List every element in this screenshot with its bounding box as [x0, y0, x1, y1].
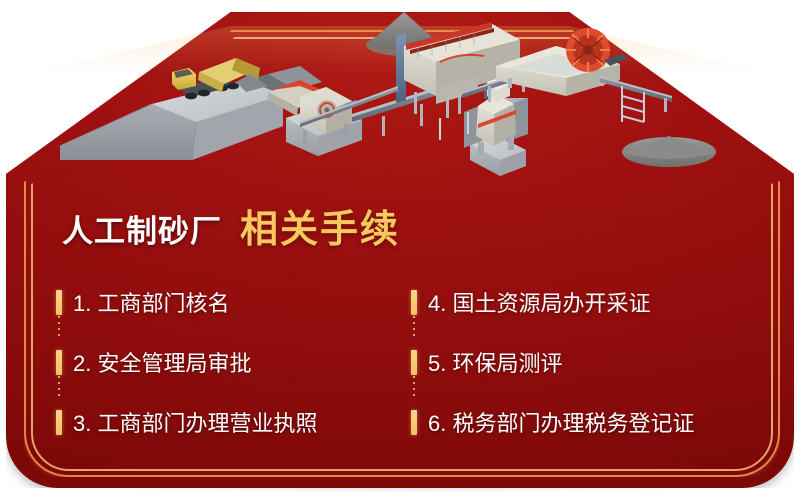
gold-bar-marker-icon [411, 350, 417, 375]
title-accent-text: 相关手续 [240, 198, 400, 253]
list-item-label: 4. 国土资源局办开采证 [428, 286, 650, 318]
banner-title: 人工制砂厂 相关手续 [62, 198, 400, 253]
plant-scene-illustration [0, 0, 800, 190]
list-item-label: 5. 环保局测评 [428, 346, 562, 378]
list-item[interactable]: 4. 国土资源局办开采证 [411, 272, 756, 332]
list-item-label: 1. 工商部门核名 [73, 286, 229, 318]
sand-stockpile-right [622, 136, 716, 167]
gold-bar-marker-icon [411, 290, 417, 315]
list-item-label: 2. 安全管理局审批 [73, 346, 251, 378]
list-item[interactable]: 6. 税务部门办理税务登记证 [411, 392, 756, 452]
list-item[interactable]: 5. 环保局测评 [411, 332, 756, 392]
gold-bar-marker-icon [56, 290, 62, 315]
gold-bar-marker-icon [56, 410, 62, 435]
banner-root: 人工制砂厂 相关手续 1. 工商部门核名 4. 国土资源局办开采证 2. 安全管… [0, 0, 800, 500]
gold-bar-marker-icon [411, 410, 417, 435]
list-item-label: 6. 税务部门办理税务登记证 [428, 406, 694, 438]
concrete-feed-platform [60, 80, 283, 160]
list-item[interactable]: 2. 安全管理局审批 [56, 332, 411, 392]
washer-bucket-wheel [566, 28, 610, 72]
list-item[interactable]: 3. 工商部门办理营业执照 [56, 392, 411, 452]
list-item[interactable]: 1. 工商部门核名 [56, 272, 411, 332]
list-item-label: 3. 工商部门办理营业执照 [73, 406, 317, 438]
procedure-list: 1. 工商部门核名 4. 国土资源局办开采证 2. 安全管理局审批 5. 环保局… [56, 272, 756, 452]
belt-conveyor-discharge [600, 76, 672, 122]
gold-bar-marker-icon [56, 350, 62, 375]
title-main-text: 人工制砂厂 [62, 206, 222, 251]
conveyor-support-posts [440, 112, 468, 140]
